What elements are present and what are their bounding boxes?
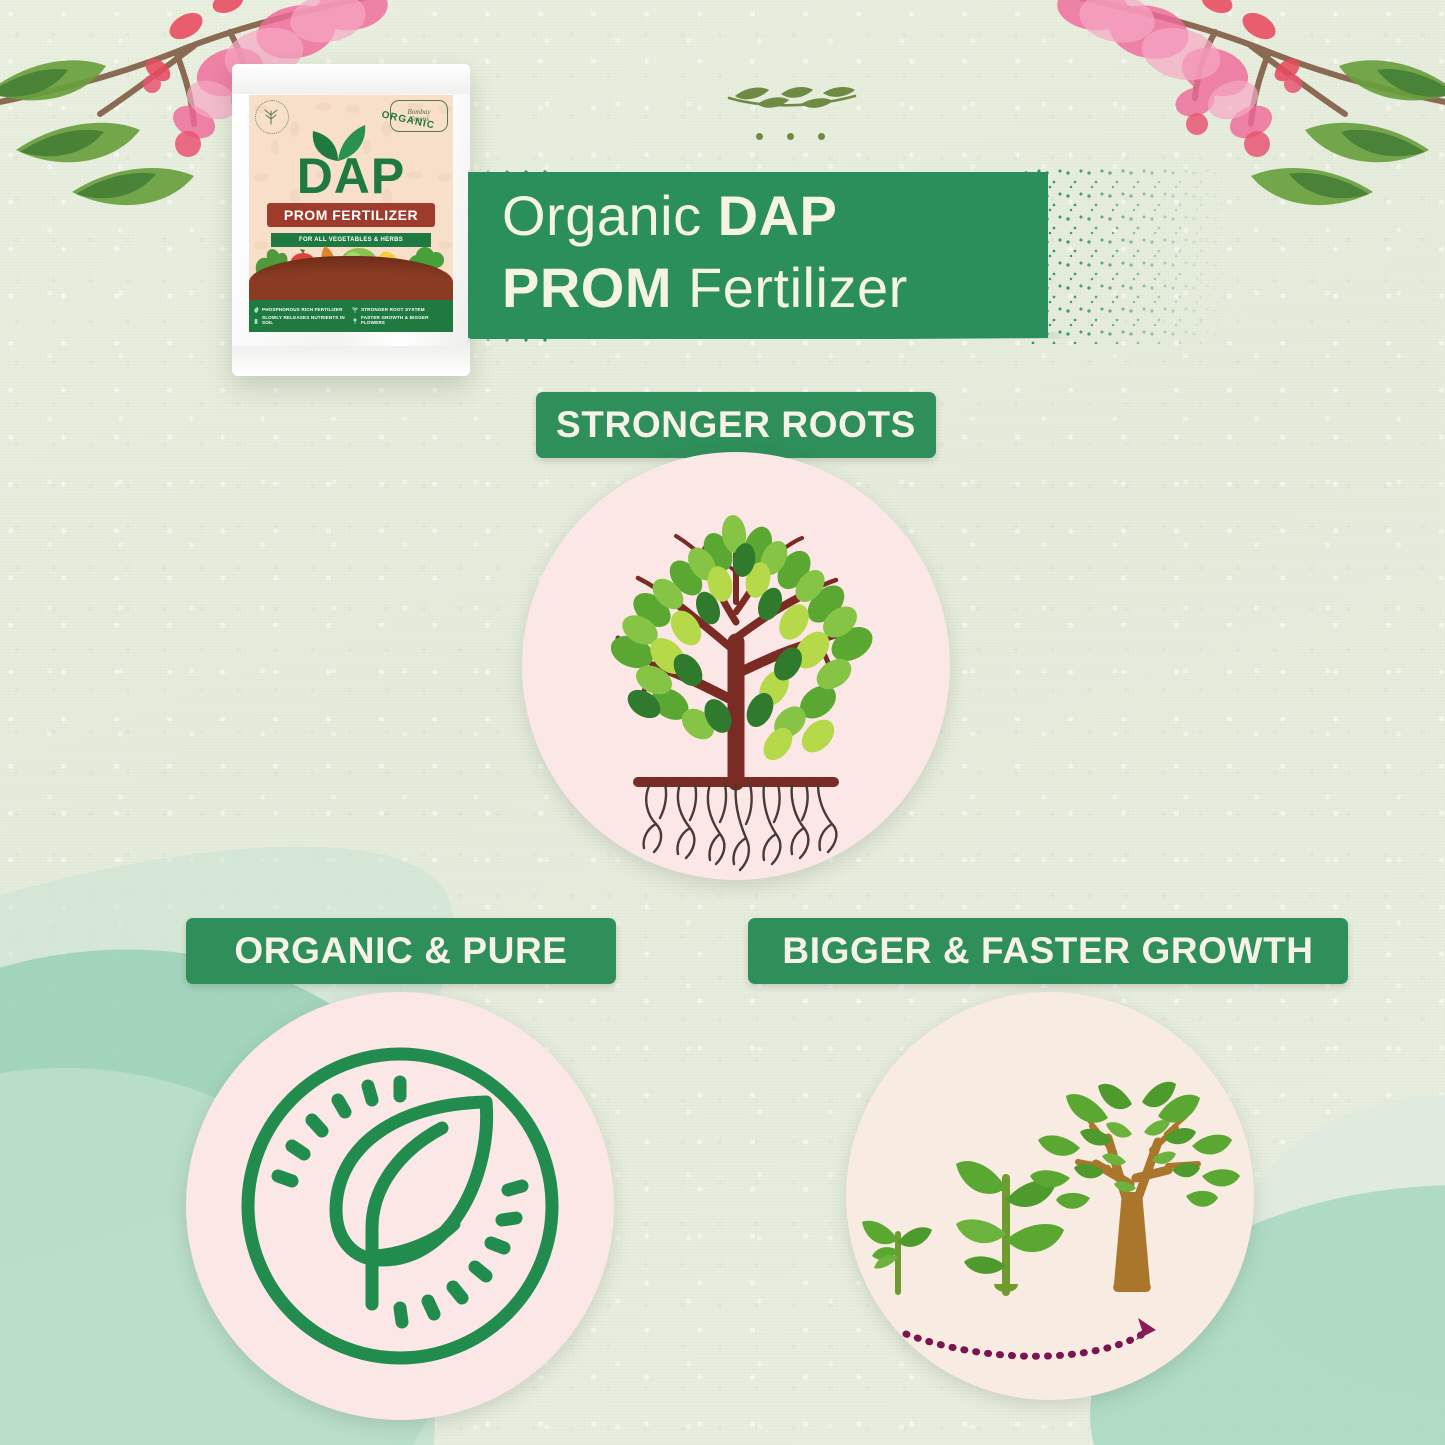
badge-stronger-roots[interactable]: STRONGER ROOTS <box>536 392 936 458</box>
circle-bigger-faster-growth <box>846 992 1254 1400</box>
packet-bottom-seal <box>232 346 470 376</box>
olive-branch-ornament <box>715 78 865 140</box>
badge-bigger-faster-growth-label: BIGGER & FASTER GROWTH <box>782 930 1313 972</box>
packet-feature-item: SLOWLY RELEASES NUTRIENTS IN SOIL <box>253 316 350 325</box>
badge-organic-pure[interactable]: ORGANIC & PURE <box>186 918 616 984</box>
bottle-bullet-icon <box>253 318 259 324</box>
packet-feature-text: FASTER GROWTH & BIGGER FLOWERS <box>361 316 449 325</box>
leaf-in-dashed-circle-icon <box>186 992 614 1420</box>
title-word-dap: DAP <box>718 184 838 247</box>
title-line-2: PROM Fertilizer <box>502 252 1192 324</box>
packet-top-seal <box>232 64 470 94</box>
title-word-prom: PROM <box>502 256 672 319</box>
growth-stage-sprout <box>862 1221 932 1292</box>
packet-product-subtitle: PROM FERTILIZER <box>284 207 418 223</box>
product-packet-image: Bombay Greens ORGANIC DAP PROM FERTILIZE… <box>232 64 470 376</box>
brush-underline <box>470 332 1070 339</box>
title-line-1: Organic DAP <box>502 180 1192 252</box>
ornament-dot <box>787 133 794 140</box>
circle-stronger-roots <box>522 452 950 880</box>
badge-bigger-faster-growth[interactable]: BIGGER & FASTER GROWTH <box>748 918 1348 984</box>
growth-stage-tree <box>1030 1082 1240 1292</box>
title-word-fertilizer: Fertilizer <box>672 256 908 319</box>
page-title: Organic DAP PROM Fertilizer <box>502 180 1192 323</box>
leaf-bullet-icon <box>253 307 259 313</box>
packet-product-name: DAP <box>249 151 453 201</box>
infographic-canvas: Bombay Greens ORGANIC DAP PROM FERTILIZE… <box>0 0 1445 1445</box>
certification-seal-icon <box>255 100 289 134</box>
badge-stronger-roots-label: STRONGER ROOTS <box>556 404 916 446</box>
ornament-dots <box>715 133 865 140</box>
ornament-dot <box>818 133 825 140</box>
packet-feature-item: STRONGER ROOT SYSTEM <box>352 307 449 313</box>
packet-feature-text: SLOWLY RELEASES NUTRIENTS IN SOIL <box>262 316 350 325</box>
packet-product-subtitle-band: PROM FERTILIZER <box>267 203 435 227</box>
soil-illustration <box>249 256 453 300</box>
plant-growth-stages-illustration <box>846 992 1254 1400</box>
badge-organic-pure-label: ORGANIC & PURE <box>234 930 567 972</box>
packet-feature-column-left: PHOSPHOROUS RICH FERTILIZER SLOWLY RELEA… <box>253 303 350 329</box>
packet-feature-text: PHOSPHOROUS RICH FERTILIZER <box>262 308 343 313</box>
title-banner: Organic DAP PROM Fertilizer <box>462 164 1202 350</box>
packet-feature-item: FASTER GROWTH & BIGGER FLOWERS <box>352 316 449 325</box>
tree-with-roots-illustration <box>522 452 950 880</box>
circle-organic-pure <box>186 992 614 1420</box>
flower-bullet-icon <box>352 318 358 324</box>
packet-feature-bar: PHOSPHOROUS RICH FERTILIZER SLOWLY RELEA… <box>249 300 453 332</box>
title-word-organic: Organic <box>502 184 718 247</box>
ornament-dot <box>756 133 763 140</box>
packet-feature-text: STRONGER ROOT SYSTEM <box>361 308 425 313</box>
packet-label: Bombay Greens ORGANIC DAP PROM FERTILIZE… <box>249 95 453 332</box>
packet-feature-item: PHOSPHOROUS RICH FERTILIZER <box>253 307 350 313</box>
growth-progress-arrow <box>906 1318 1156 1356</box>
sprout-bullet-icon <box>352 307 358 313</box>
packet-feature-column-right: STRONGER ROOT SYSTEM FASTER GROWTH & BIG… <box>352 303 449 329</box>
